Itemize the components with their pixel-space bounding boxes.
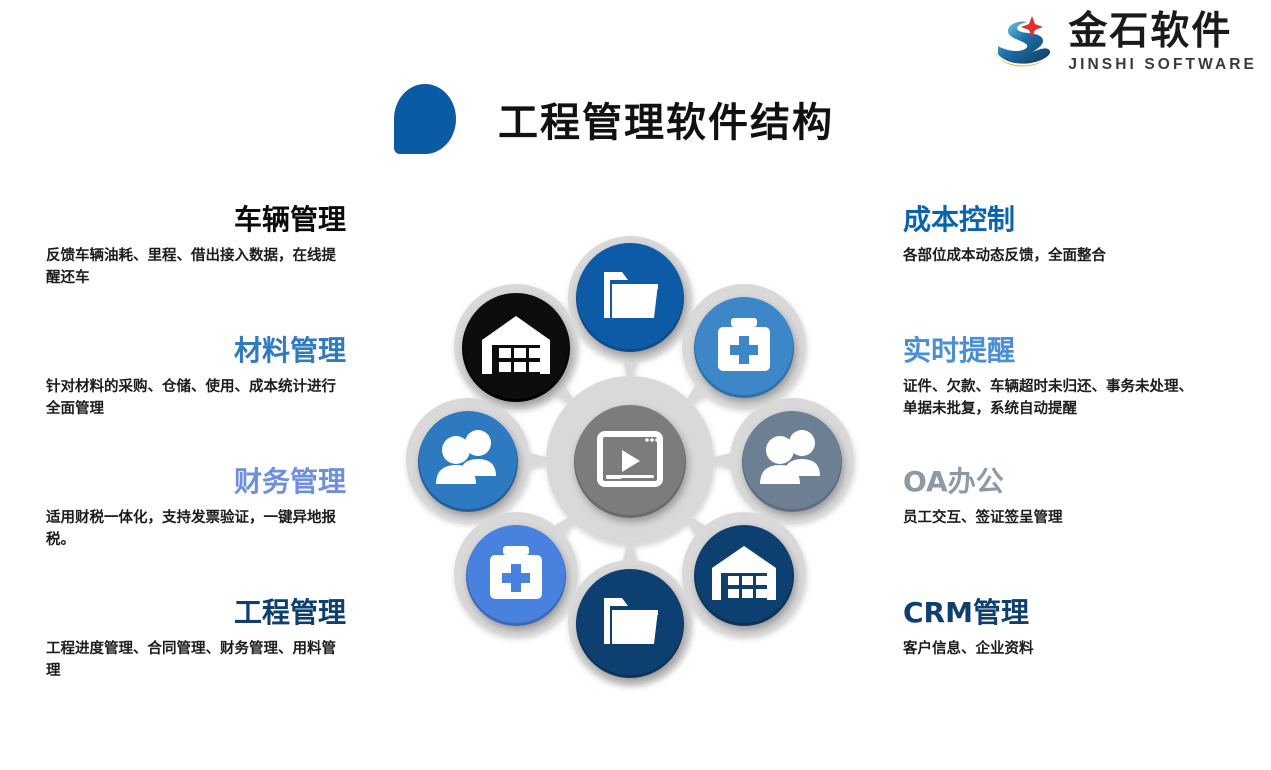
jinshi-s-swoosh-logo-icon	[988, 8, 1060, 76]
brand-logo: 金石软件 JINSHI SOFTWARE	[988, 8, 1257, 76]
feature-heading: 成本控制	[903, 205, 1203, 236]
logo-company-name-en: JINSHI SOFTWARE	[1068, 57, 1257, 73]
feature-heading: 实时提醒	[903, 336, 1203, 367]
page-title: 工程管理软件结构	[394, 84, 834, 154]
logo-company-name-cn: 金石软件	[1068, 12, 1232, 51]
feature-heading: 车辆管理	[46, 205, 346, 236]
hub-node-top-left[interactable]	[462, 293, 570, 402]
hub-center-node[interactable]	[574, 405, 686, 518]
feature-description: 员工交互、签证签呈管理	[903, 508, 1203, 530]
feature-item-material: 材料管理 针对材料的采购、仓储、使用、成本统计进行全面管理	[46, 336, 346, 420]
feature-heading: 材料管理	[46, 336, 346, 367]
feature-heading: 财务管理	[46, 467, 346, 498]
feature-description: 各部位成本动态反馈，全面整合	[903, 246, 1203, 268]
infographic-canvas: 金石软件 JINSHI SOFTWARE 工程管理软件结构 车辆管理 反馈车辆油…	[0, 0, 1271, 770]
blue-teardrop-icon	[394, 84, 456, 154]
feature-item-oa-office: OA办公 员工交互、签证签呈管理	[903, 467, 1203, 530]
feature-item-finance: 财务管理 适用财税一体化，支持发票验证，一键异地报税。	[46, 467, 346, 551]
hub-node-left[interactable]	[418, 411, 518, 512]
feature-description: 客户信息、企业资料	[903, 639, 1203, 661]
feature-item-cost-control: 成本控制 各部位成本动态反馈，全面整合	[903, 205, 1203, 268]
feature-heading: 工程管理	[46, 598, 346, 629]
hub-diagram	[398, 228, 862, 692]
hub-node-bottom[interactable]	[576, 569, 684, 678]
feature-description: 工程进度管理、合同管理、财务管理、用料管理	[46, 639, 346, 683]
feature-heading: OA办公	[903, 467, 1203, 498]
feature-description: 证件、欠款、车辆超时未归还、事务未处理、单据未批复，系统自动提醒	[903, 377, 1203, 421]
page-title-text: 工程管理软件结构	[498, 90, 834, 148]
hub-node-top-right[interactable]	[694, 297, 794, 398]
feature-description: 反馈车辆油耗、里程、借出接入数据，在线提醒还车	[46, 246, 346, 290]
hub-node-bottom-right[interactable]	[694, 525, 794, 626]
feature-description: 适用财税一体化，支持发票验证，一键异地报税。	[46, 508, 346, 552]
hub-node-right[interactable]	[742, 411, 842, 512]
hub-node-top[interactable]	[576, 243, 684, 352]
feature-item-engineering: 工程管理 工程进度管理、合同管理、财务管理、用料管理	[46, 598, 346, 682]
feature-description: 针对材料的采购、仓储、使用、成本统计进行全面管理	[46, 377, 346, 421]
feature-item-vehicle: 车辆管理 反馈车辆油耗、里程、借出接入数据，在线提醒还车	[46, 205, 346, 289]
feature-item-crm: CRM管理 客户信息、企业资料	[903, 598, 1203, 661]
hub-node-bottom-left[interactable]	[466, 525, 566, 626]
feature-item-realtime-alert: 实时提醒 证件、欠款、车辆超时未归还、事务未处理、单据未批复，系统自动提醒	[903, 336, 1203, 420]
feature-heading: CRM管理	[903, 598, 1203, 629]
